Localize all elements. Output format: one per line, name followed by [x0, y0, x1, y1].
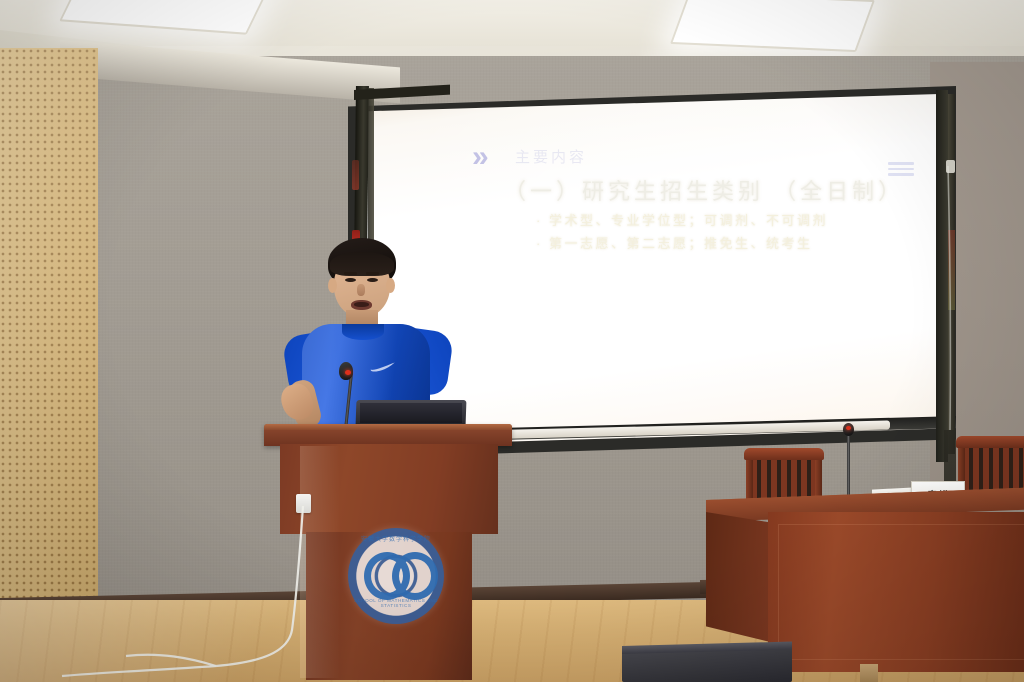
microphone-led-indicator — [345, 370, 351, 375]
panel-table-side — [706, 512, 770, 642]
shirt-collar — [342, 324, 384, 340]
table-microphone-led — [846, 426, 851, 430]
chair-backrest-top — [956, 436, 1024, 448]
wall-cable — [860, 86, 980, 486]
panel-table-leg — [860, 664, 878, 682]
chair-backrest-top — [744, 448, 824, 460]
eyebrow-left — [344, 272, 357, 275]
swoosh-logo-icon — [370, 362, 396, 372]
slide-header-text: 主要内容 — [515, 146, 587, 167]
floor-cable — [0, 480, 400, 682]
chevron-double-right-icon: » — [472, 140, 484, 174]
ear-left — [328, 278, 337, 293]
panel-table-panel-groove — [778, 524, 1024, 660]
eye-right — [367, 278, 378, 282]
mouth-interior — [354, 302, 369, 307]
red-pole-upper — [352, 160, 359, 190]
slide-title: （一）研究生招生类别 （全日制） — [504, 174, 904, 206]
slide-bullet: · 第一志愿、第二志愿；推免生、统考生 — [536, 233, 812, 252]
eyebrow-right — [366, 272, 379, 275]
ear-right — [386, 278, 395, 293]
laptop-screen[interactable] — [360, 403, 462, 423]
table-microphone-stem — [847, 430, 850, 502]
ceiling-light-right-icon — [670, 0, 875, 52]
slide-bullet: · 学术型、专业学位型；可调剂、不可调剂 — [536, 210, 828, 229]
eye-left — [345, 278, 356, 282]
nose — [357, 284, 365, 296]
hair-front — [330, 252, 394, 276]
lectern-top-edge — [264, 424, 512, 430]
lecture-room-photo: » 主要内容 （一）研究生招生类别 （全日制） · 学术型、专业学位型；可调剂、… — [0, 0, 1024, 682]
